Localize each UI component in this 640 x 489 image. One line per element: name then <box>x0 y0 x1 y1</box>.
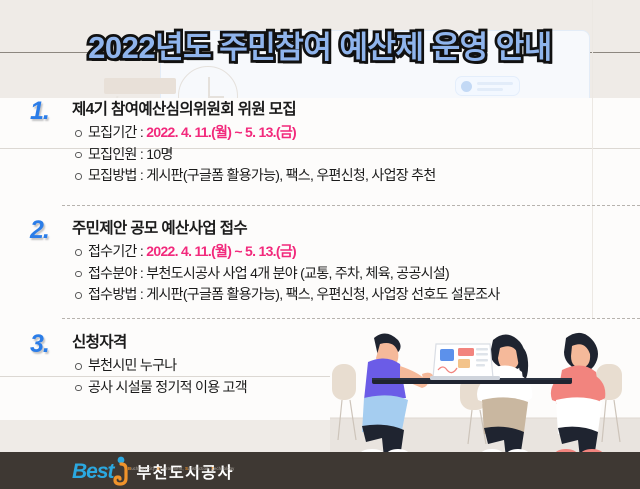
tagline-word-s: atisfaction, <box>188 466 210 471</box>
section-2-heading: 주민제안 공모 예산사업 접수 <box>72 219 625 238</box>
item-label: 모집인원 : <box>88 146 146 162</box>
item-value: 게시판(구글폼 활용가능), 팩스, 우편신청, 사업장 추천 <box>146 167 435 183</box>
logo-company-name: 부천도시공사 <box>137 459 234 483</box>
item-label: 모집방법 : <box>88 167 146 183</box>
item-value: 부천도시공사 사업 4개 분야 (교통, 주차, 체육, 공공시설) <box>146 265 449 281</box>
bg-beige-block-1 <box>104 78 176 94</box>
tagline-word-b: ucheon City, <box>131 466 156 471</box>
list-item: 모집방법 : 게시판(구글폼 활용가능), 팩스, 우편신청, 사업장 추천 <box>72 165 625 186</box>
list-item: 모집인원 : 10명 <box>72 144 625 165</box>
bg-chip-line-1 <box>477 82 513 85</box>
logo-tagline: Bucheon City, Environment, Satisfaction,… <box>128 466 234 471</box>
item-label: 모집기간 : <box>88 124 146 140</box>
item-value-highlight: 2022. 4. 11.(월) ~ 5. 13.(금) <box>146 124 296 140</box>
section-1-heading: 제4기 참여예산심의위원회 위원 모집 <box>72 100 625 119</box>
list-item: 접수분야 : 부천도시공사 사업 4개 분야 (교통, 주차, 체육, 공공시설… <box>72 263 625 284</box>
bg-chip-dot-1 <box>461 81 472 92</box>
section-3-number: 3. <box>30 330 64 359</box>
list-item: 접수기간 : 2022. 4. 11.(월) ~ 5. 13.(금) <box>72 241 625 262</box>
list-item: 모집기간 : 2022. 4. 11.(월) ~ 5. 13.(금) <box>72 122 625 143</box>
logo-figure-icon <box>112 456 128 486</box>
item-label: 접수방법 : <box>88 286 146 302</box>
item-value: 공사 시설물 정기적 이용 고객 <box>88 379 247 395</box>
section-1: 1. 제4기 참여예산심의위원회 위원 모집 모집기간 : 2022. 4. 1… <box>25 95 625 205</box>
item-value: 부천시민 누구나 <box>88 357 176 373</box>
page-title: 2022년도 주민참여 예산제 운영 안내 <box>88 22 552 67</box>
section-1-body: 제4기 참여예산심의위원회 위원 모집 모집기간 : 2022. 4. 11.(… <box>72 95 625 187</box>
bg-chip-line-2 <box>477 88 503 91</box>
footer-logo: Best 부천도시공사 <box>72 453 234 489</box>
section-2-bullet-list: 접수기간 : 2022. 4. 11.(월) ~ 5. 13.(금) 접수분야 … <box>72 241 625 305</box>
section-1-bullet-list: 모집기간 : 2022. 4. 11.(월) ~ 5. 13.(금) 모집인원 … <box>72 122 625 186</box>
list-item: 부천시민 누구나 <box>72 355 625 376</box>
section-1-number: 1. <box>30 97 64 126</box>
section-3: 3. 신청자격 부천시민 누구나 공사 시설물 정기적 이용 고객 <box>25 318 625 398</box>
list-item: 공사 시설물 정기적 이용 고객 <box>72 377 625 398</box>
item-value: 10명 <box>146 146 172 162</box>
item-value: 게시판(구글폼 활용가능), 팩스, 우편신청, 사업장 선호도 설문조사 <box>146 286 499 302</box>
content-panel: 1. 제4기 참여예산심의위원회 위원 모집 모집기간 : 2022. 4. 1… <box>25 95 625 420</box>
logo-best-text: Best <box>72 461 114 482</box>
section-3-bullet-list: 부천시민 누구나 공사 시설물 정기적 이용 고객 <box>72 355 625 398</box>
section-2-number: 2. <box>30 216 64 245</box>
section-3-heading: 신청자격 <box>72 333 625 352</box>
item-label: 접수기간 : <box>88 243 146 259</box>
poster-canvas: </> Aa 2022년도 주민참여 예산제 운영 안내 <box>0 0 640 489</box>
section-2-body: 주민제안 공모 예산사업 접수 접수기간 : 2022. 4. 11.(월) ~… <box>72 214 625 306</box>
item-label: 접수분야 : <box>88 265 146 281</box>
tagline-word-t: echnology <box>214 466 234 471</box>
tagline-word-e: nvironment, <box>160 466 184 471</box>
list-item: 접수방법 : 게시판(구글폼 활용가능), 팩스, 우편신청, 사업장 선호도 … <box>72 284 625 305</box>
section-3-body: 신청자격 부천시민 누구나 공사 시설물 정기적 이용 고객 <box>72 328 625 398</box>
section-2: 2. 주민제안 공모 예산사업 접수 접수기간 : 2022. 4. 11.(월… <box>25 205 625 318</box>
item-value-highlight: 2022. 4. 11.(월) ~ 5. 13.(금) <box>146 243 296 259</box>
title-container: 2022년도 주민참여 예산제 운영 안내 <box>0 22 640 67</box>
